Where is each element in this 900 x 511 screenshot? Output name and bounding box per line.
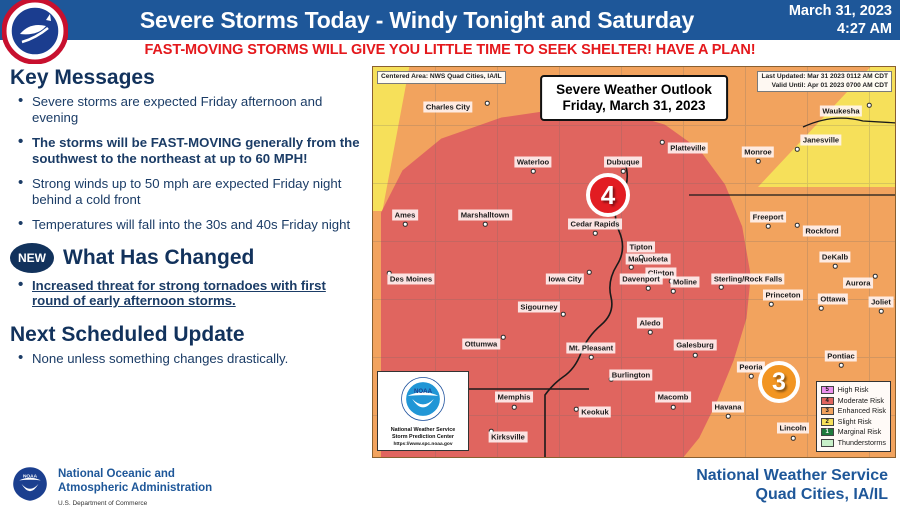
city-dot-icon [879,309,884,314]
city-label: Cedar Rapids [568,219,622,230]
city-dot-icon [839,363,844,368]
risk-badge-enhanced: 3 [758,361,800,403]
city-label: Havana [712,402,744,413]
legend-row: 1Marginal Risk [821,427,886,437]
next-update-list: None unless something changes drasticall… [10,351,362,367]
city-label: Macomb [655,392,691,403]
city-dot-icon [833,264,838,269]
city-label: Waterloo [514,157,551,168]
city-label: Ottawa [818,294,848,305]
city-dot-icon [719,285,724,290]
footer-office: National Weather Service Quad Cities, IA… [696,466,888,504]
city-dot-icon [512,405,517,410]
legend-swatch: 2 [821,418,834,426]
list-item: Increased threat for strong tornadoes wi… [10,278,362,309]
city-label: Memphis [495,392,533,403]
city-label: Princeton [763,290,803,301]
spc-line1: National Weather Service [380,427,466,434]
header-date: March 31, 2023 [789,2,892,20]
risk-legend: 5High Risk4Moderate Risk3Enhanced Risk2S… [816,381,891,453]
city-label: Kirksville [489,432,528,443]
legend-row: 5High Risk [821,385,886,395]
city-dot-icon [483,222,488,227]
valid-until-label: Valid Until: Apr 01 2023 0700 AM CDT [761,82,888,91]
page-footer: NOAA National Oceanic and Atmospheric Ad… [0,460,900,506]
city-label: Moline [670,277,699,288]
last-updated-label: Last Updated: Mar 31 2023 0112 AM CDT [761,73,888,82]
city-label: Ottumwa [462,339,500,350]
legend-row: 2Slight Risk [821,417,886,427]
legend-label: Slight Risk [838,417,872,427]
city-dot-icon [593,231,598,236]
list-item: The storms will be FAST-MOVING generally… [10,135,362,166]
city-label: Rockford [803,226,841,237]
city-label: Ames [392,210,418,221]
city-label: Lincoln [777,423,809,434]
legend-swatch: 3 [821,407,834,415]
city-dot-icon [648,330,653,335]
footer-agency-line1: National Oceanic and [58,468,212,482]
city-dot-icon [873,274,878,279]
legend-row: 4Moderate Risk [821,396,886,406]
city-label: Aurora [843,278,873,289]
key-messages-list: Severe storms are expected Friday aftern… [10,94,362,233]
list-item: Strong winds up to 50 mph are expected F… [10,176,362,207]
noaa-logo-icon: NOAA [400,376,446,422]
city-dot-icon [671,289,676,294]
noaa-logo-icon: NOAA [12,466,48,502]
spc-attribution-box: NOAA National Weather Service Storm Pred… [377,371,469,451]
city-dot-icon [660,140,665,145]
legend-label: High Risk [838,385,869,395]
what-has-changed-list: Increased threat for strong tornadoes wi… [10,278,362,309]
legend-swatch: 4 [821,397,834,405]
risk-badge-moderate: 4 [586,173,630,217]
centered-area-label: Centered Area: NWS Quad Cities, IA/IL [377,71,506,84]
city-dot-icon [639,255,644,260]
city-label: Mt. Pleasant [566,343,615,354]
legend-row: 3Enhanced Risk [821,406,886,416]
city-label: Burlington [609,370,652,381]
city-label: Sigourney [518,302,560,313]
city-label: Maquoketa [626,254,671,265]
legend-swatch [821,439,834,447]
left-panel: Key Messages Severe storms are expected … [0,60,370,460]
city-dot-icon [589,355,594,360]
city-label: Dubuque [604,157,642,168]
city-label: Freeport [750,212,786,223]
city-dot-icon [791,436,796,441]
severe-weather-outlook-map[interactable]: Centered Area: NWS Quad Cities, IA/IL La… [372,66,896,458]
city-label: Sterling/Rock Falls [711,274,784,285]
legend-swatch: 1 [821,428,834,436]
outlook-title-box: Severe Weather Outlook Friday, March 31,… [540,75,728,121]
city-label: Janesville [800,135,841,146]
what-has-changed-header: NEW What Has Changed [10,243,362,273]
city-label: Monroe [742,147,774,158]
next-update-title: Next Scheduled Update [10,323,362,347]
new-badge: NEW [10,243,54,273]
city-label: Galesburg [674,340,717,351]
legend-label: Thunderstorms [838,438,886,448]
city-dot-icon [629,265,634,270]
city-label: Iowa City [546,274,584,285]
city-label: Aledo [637,318,663,329]
legend-label: Moderate Risk [838,396,884,406]
legend-row: Thunderstorms [821,438,886,448]
page-title: Severe Storms Today - Windy Tonight and … [72,0,762,40]
city-label: Platteville [668,143,708,154]
city-dot-icon [621,169,626,174]
spc-url: https://www.spc.noaa.gov [380,442,466,447]
city-dot-icon [795,147,800,152]
city-label: Charles City [423,102,472,113]
nws-seal-icon [2,0,68,64]
legend-label: Marginal Risk [838,427,882,437]
city-dot-icon [867,103,872,108]
alert-banner: FAST-MOVING STORMS WILL GIVE YOU LITTLE … [0,40,900,60]
city-dot-icon [531,169,536,174]
city-dot-icon [766,224,771,229]
footer-office-line1: National Weather Service [696,466,888,485]
city-dot-icon [671,405,676,410]
key-messages-title: Key Messages [10,66,362,90]
map-timestamps: Last Updated: Mar 31 2023 0112 AM CDT Va… [757,71,892,92]
outlook-title-line1: Severe Weather Outlook [556,82,712,98]
city-label: Marshalltown [458,210,512,221]
city-label: Davenport [620,274,663,285]
city-label: Keokuk [579,407,611,418]
city-dot-icon [819,306,824,311]
footer-department: U.S. Department of Commerce [58,497,212,511]
city-dot-icon [403,222,408,227]
city-label: Tipton [627,242,655,253]
city-dot-icon [646,286,651,291]
city-label: Joliet [869,297,894,308]
list-item: None unless something changes drasticall… [10,351,362,367]
svg-text:NOAA: NOAA [414,388,433,395]
legend-swatch: 5 [821,386,834,394]
header-time: 4:27 AM [789,20,892,38]
city-dot-icon [574,407,579,412]
city-dot-icon [795,223,800,228]
city-dot-icon [756,159,761,164]
city-label: Pontiac [825,351,857,362]
city-dot-icon [726,414,731,419]
city-label: DeKalb [819,252,850,263]
spc-line2: Storm Prediction Center [380,434,466,441]
legend-label: Enhanced Risk [838,406,886,416]
city-dot-icon [561,312,566,317]
what-has-changed-title: What Has Changed [63,246,254,270]
city-dot-icon [587,270,592,275]
city-dot-icon [693,353,698,358]
city-dot-icon [749,374,754,379]
footer-agency-line2: Atmospheric Administration [58,482,212,496]
city-label: Des Moines [387,274,434,285]
city-label: Waukesha [820,106,862,117]
header-datetime: March 31, 2023 4:27 AM [789,2,892,38]
footer-office-line2: Quad Cities, IA/IL [696,485,888,504]
city-dot-icon [501,335,506,340]
city-dot-icon [485,101,490,106]
list-item: Severe storms are expected Friday aftern… [10,94,362,125]
svg-text:NOAA: NOAA [23,473,38,479]
outlook-title-line2: Friday, March 31, 2023 [556,98,712,114]
list-item: Temperatures will fall into the 30s and … [10,217,362,233]
footer-agency: National Oceanic and Atmospheric Adminis… [58,468,212,511]
city-dot-icon [769,302,774,307]
page-header: Severe Storms Today - Windy Tonight and … [0,0,900,40]
